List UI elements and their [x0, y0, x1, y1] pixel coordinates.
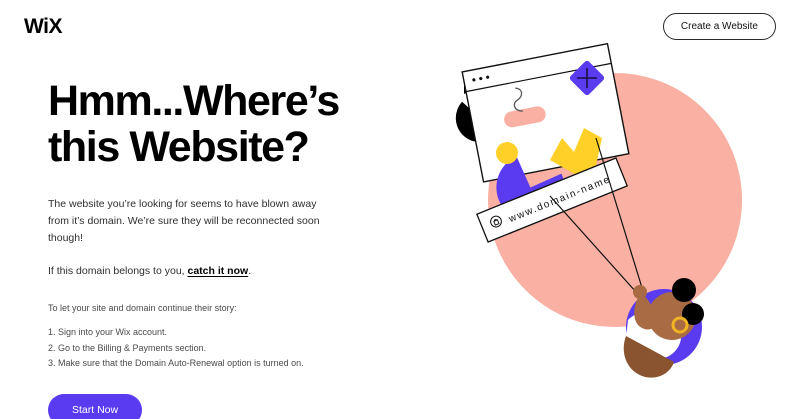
claim-suffix-text: .: [248, 265, 251, 277]
steps-list: 1. Sign into your Wix account. 2. Go to …: [48, 325, 388, 371]
claim-prefix-text: If this domain belongs to you,: [48, 265, 188, 277]
list-item: 3. Make sure that the Domain Auto-Renewa…: [48, 356, 388, 371]
headline-line-2: this Website?: [48, 124, 388, 170]
kite-illustration: www.domain-name: [400, 20, 800, 419]
list-item: 1. Sign into your Wix account.: [48, 325, 388, 340]
page-title: Hmm...Where’s this Website?: [48, 78, 388, 170]
description-paragraph: The website you’re looking for seems to …: [48, 196, 333, 247]
catch-it-now-link[interactable]: catch it now: [188, 265, 249, 277]
error-page: WiX Create a Website Hmm...Where’s this …: [0, 0, 800, 419]
main-content: Hmm...Where’s this Website? The website …: [48, 78, 388, 419]
person-figure: [624, 278, 704, 378]
headline-line-1: Hmm...Where’s: [48, 77, 339, 125]
start-now-button[interactable]: Start Now: [48, 394, 142, 419]
person-hand-shape: [633, 285, 647, 299]
claim-domain-line: If this domain belongs to you, catch it …: [48, 263, 388, 280]
yellow-dot-shape: [496, 142, 518, 164]
list-item: 2. Go to the Billing & Payments section.: [48, 341, 388, 356]
wix-logo[interactable]: WiX: [24, 16, 62, 37]
steps-lead-text: To let your site and domain continue the…: [48, 302, 388, 316]
hair-bun-shape: [672, 278, 696, 302]
